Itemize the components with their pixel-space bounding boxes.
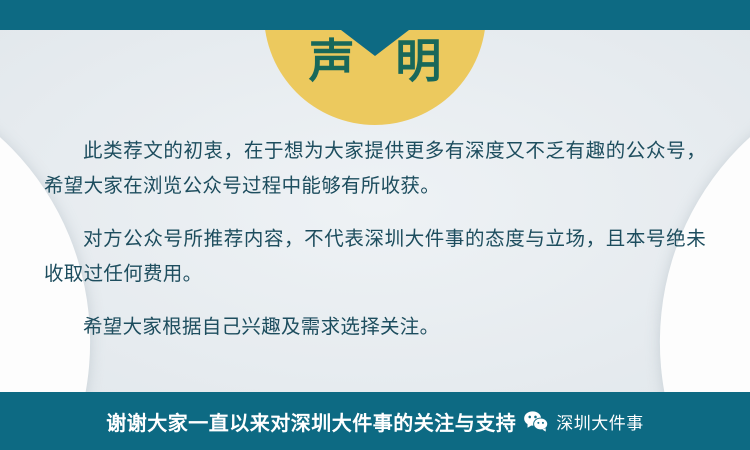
top-band (0, 0, 750, 30)
body-copy: 此类荐文的初衷，在于想为大家提供更多有深度又不乏有趣的公众号，希望大家在浏览公众… (44, 134, 706, 345)
footer-thanks-text: 谢谢大家一直以来对深圳大件事的关注与支持 (106, 407, 516, 436)
body-paragraph: 希望大家根据自己兴趣及需求选择关注。 (44, 310, 706, 345)
bottom-band: 谢谢大家一直以来对深圳大件事的关注与支持 深圳大件事 (0, 392, 750, 450)
declaration-poster: 声 明 此类荐文的初衷，在于想为大家提供更多有深度又不乏有趣的公众号，希望大家在… (0, 0, 750, 450)
body-paragraph: 此类荐文的初衷，在于想为大家提供更多有深度又不乏有趣的公众号，希望大家在浏览公众… (44, 134, 706, 204)
page-title: 声 明 (0, 38, 750, 84)
body-paragraph: 对方公众号所推荐内容，不代表深圳大件事的态度与立场，且本号绝未收取过任何费用。 (44, 222, 706, 292)
wechat-icon (523, 410, 549, 432)
footer-account-name: 深圳大件事 (556, 409, 644, 434)
